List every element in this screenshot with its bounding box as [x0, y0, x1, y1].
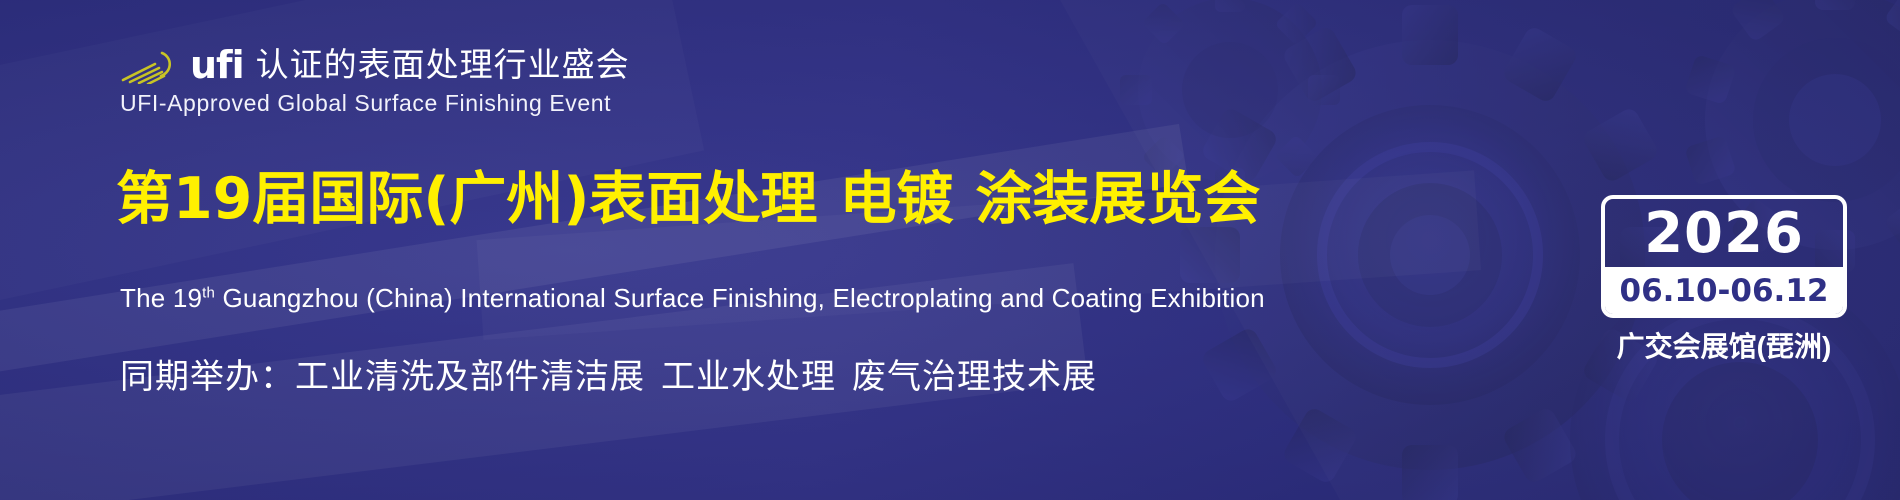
- headline-part-1: 第19届国际(广州)表面处理: [116, 166, 817, 232]
- event-year: 2026: [1605, 199, 1843, 267]
- concurrent-label: 同期举办：: [120, 358, 295, 396]
- ufi-swoosh-icon: [118, 44, 184, 84]
- concurrent-event-2: 工业水处理: [661, 358, 836, 396]
- headline-part-2: 电镀: [839, 166, 953, 232]
- event-date-range: 06.10-06.12: [1605, 267, 1843, 314]
- headline-part-3: 涂装展览会: [975, 166, 1260, 232]
- date-badge: 2026 06.10-06.12: [1601, 195, 1847, 318]
- subtitle-rest: Guangzhou (China) International Surface …: [215, 283, 1265, 313]
- concurrent-event-1: 工业清洗及部件清洁展: [295, 358, 645, 396]
- subtitle-english: The 19th Guangzhou (China) International…: [120, 282, 1265, 314]
- venue-name: 广交会展馆(琵洲): [1601, 330, 1847, 364]
- ufi-chinese-tagline: 认证的表面处理行业盛会: [256, 46, 630, 84]
- ufi-wordmark: ufi: [190, 46, 244, 84]
- concurrent-events-line: 同期举办：工业清洗及部件清洁展工业水处理废气治理技术展: [120, 355, 1097, 399]
- page-title: 第19届国际(广州)表面处理电镀涂装展览会: [116, 168, 1260, 230]
- ufi-english-tagline: UFI-Approved Global Surface Finishing Ev…: [120, 90, 611, 117]
- subtitle-ordinal: th: [202, 284, 215, 301]
- concurrent-event-3: 废气治理技术展: [852, 358, 1097, 396]
- ufi-endorsement-row: ufi 认证的表面处理行业盛会: [118, 44, 630, 84]
- subtitle-prefix: The 19: [120, 283, 202, 313]
- event-banner: ufi 认证的表面处理行业盛会 UFI-Approved Global Surf…: [0, 0, 1900, 500]
